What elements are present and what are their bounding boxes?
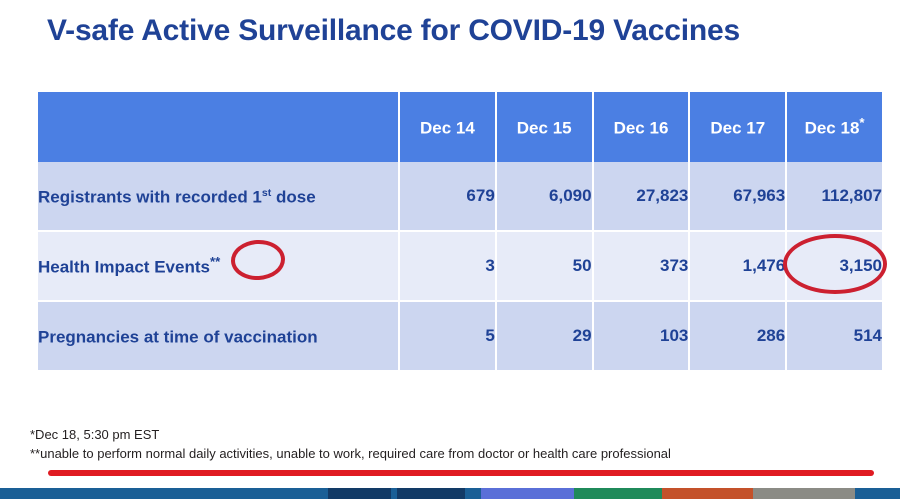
cell-registrants-dec-15: 6,090: [496, 162, 593, 231]
cell-registrants-dec-18: 112,807: [786, 162, 882, 231]
cell-pregnancies-dec-16: 103: [593, 301, 690, 371]
bottom-bar-segment-5: [481, 488, 574, 499]
table-row: Pregnancies at time of vaccination 5 29 …: [38, 301, 882, 371]
bottom-bar-segment-3: [397, 488, 465, 499]
row-label-health-impact-events: Health Impact Events**: [38, 231, 399, 301]
column-header-dec-16: Dec 16: [593, 92, 690, 162]
cell-registrants-dec-16: 27,823: [593, 162, 690, 231]
bottom-bar-segment-7: [662, 488, 753, 499]
table-header-row: Dec 14 Dec 15 Dec 16 Dec 17 Dec 18*: [38, 92, 882, 162]
row-label-note: **: [210, 254, 220, 269]
cell-pregnancies-dec-18: 514: [786, 301, 882, 371]
cell-pregnancies-dec-15: 29: [496, 301, 593, 371]
row-label-text: Health Impact Events: [38, 258, 210, 277]
cell-health-impact-dec-16: 373: [593, 231, 690, 301]
bottom-bar-segment-9: [855, 488, 900, 499]
footnote-line-2: **unable to perform normal daily activit…: [30, 444, 890, 463]
surveillance-table: Dec 14 Dec 15 Dec 16 Dec 17 Dec 18* Regi…: [38, 92, 882, 372]
column-header-dec-18: Dec 18*: [786, 92, 882, 162]
table-corner-cell: [38, 92, 399, 162]
footnotes: *Dec 18, 5:30 pm EST **unable to perform…: [30, 425, 890, 463]
cell-health-impact-dec-15: 50: [496, 231, 593, 301]
row-label-text: Registrants with recorded 1: [38, 188, 262, 207]
bottom-color-bar: [0, 488, 900, 499]
row-label-superscript: st: [262, 187, 271, 199]
footnote-line-1: *Dec 18, 5:30 pm EST: [30, 425, 890, 444]
column-header-label: Dec 15: [517, 119, 572, 138]
table-row: Health Impact Events** 3 50 373 1,476 3,…: [38, 231, 882, 301]
cell-registrants-dec-17: 67,963: [689, 162, 786, 231]
column-header-label: Dec 17: [710, 119, 765, 138]
column-header-dec-17: Dec 17: [689, 92, 786, 162]
bottom-bar-segment-6: [574, 488, 662, 499]
column-header-note: *: [859, 115, 864, 130]
cell-health-impact-dec-14: 3: [399, 231, 496, 301]
cell-pregnancies-dec-17: 286: [689, 301, 786, 371]
column-header-dec-15: Dec 15: [496, 92, 593, 162]
row-label-tail: dose: [271, 188, 315, 207]
slide-canvas: V-safe Active Surveillance for COVID-19 …: [0, 0, 900, 499]
column-header-label: Dec 16: [614, 119, 669, 138]
bottom-bar-segment-0: [0, 488, 328, 499]
row-label-text: Pregnancies at time of vaccination: [38, 328, 318, 347]
bottom-bar-segment-8: [753, 488, 855, 499]
column-header-dec-14: Dec 14: [399, 92, 496, 162]
annotation-underline: [48, 470, 874, 476]
row-label-registrants: Registrants with recorded 1st dose: [38, 162, 399, 231]
cell-registrants-dec-14: 679: [399, 162, 496, 231]
cell-health-impact-dec-17: 1,476: [689, 231, 786, 301]
bottom-bar-segment-4: [465, 488, 480, 499]
column-header-label: Dec 18: [805, 119, 860, 138]
cell-pregnancies-dec-14: 5: [399, 301, 496, 371]
bottom-bar-segment-1: [328, 488, 391, 499]
cell-health-impact-dec-18: 3,150: [786, 231, 882, 301]
row-label-pregnancies: Pregnancies at time of vaccination: [38, 301, 399, 371]
table-row: Registrants with recorded 1st dose 679 6…: [38, 162, 882, 231]
page-title: V-safe Active Surveillance for COVID-19 …: [47, 14, 867, 48]
column-header-label: Dec 14: [420, 119, 475, 138]
